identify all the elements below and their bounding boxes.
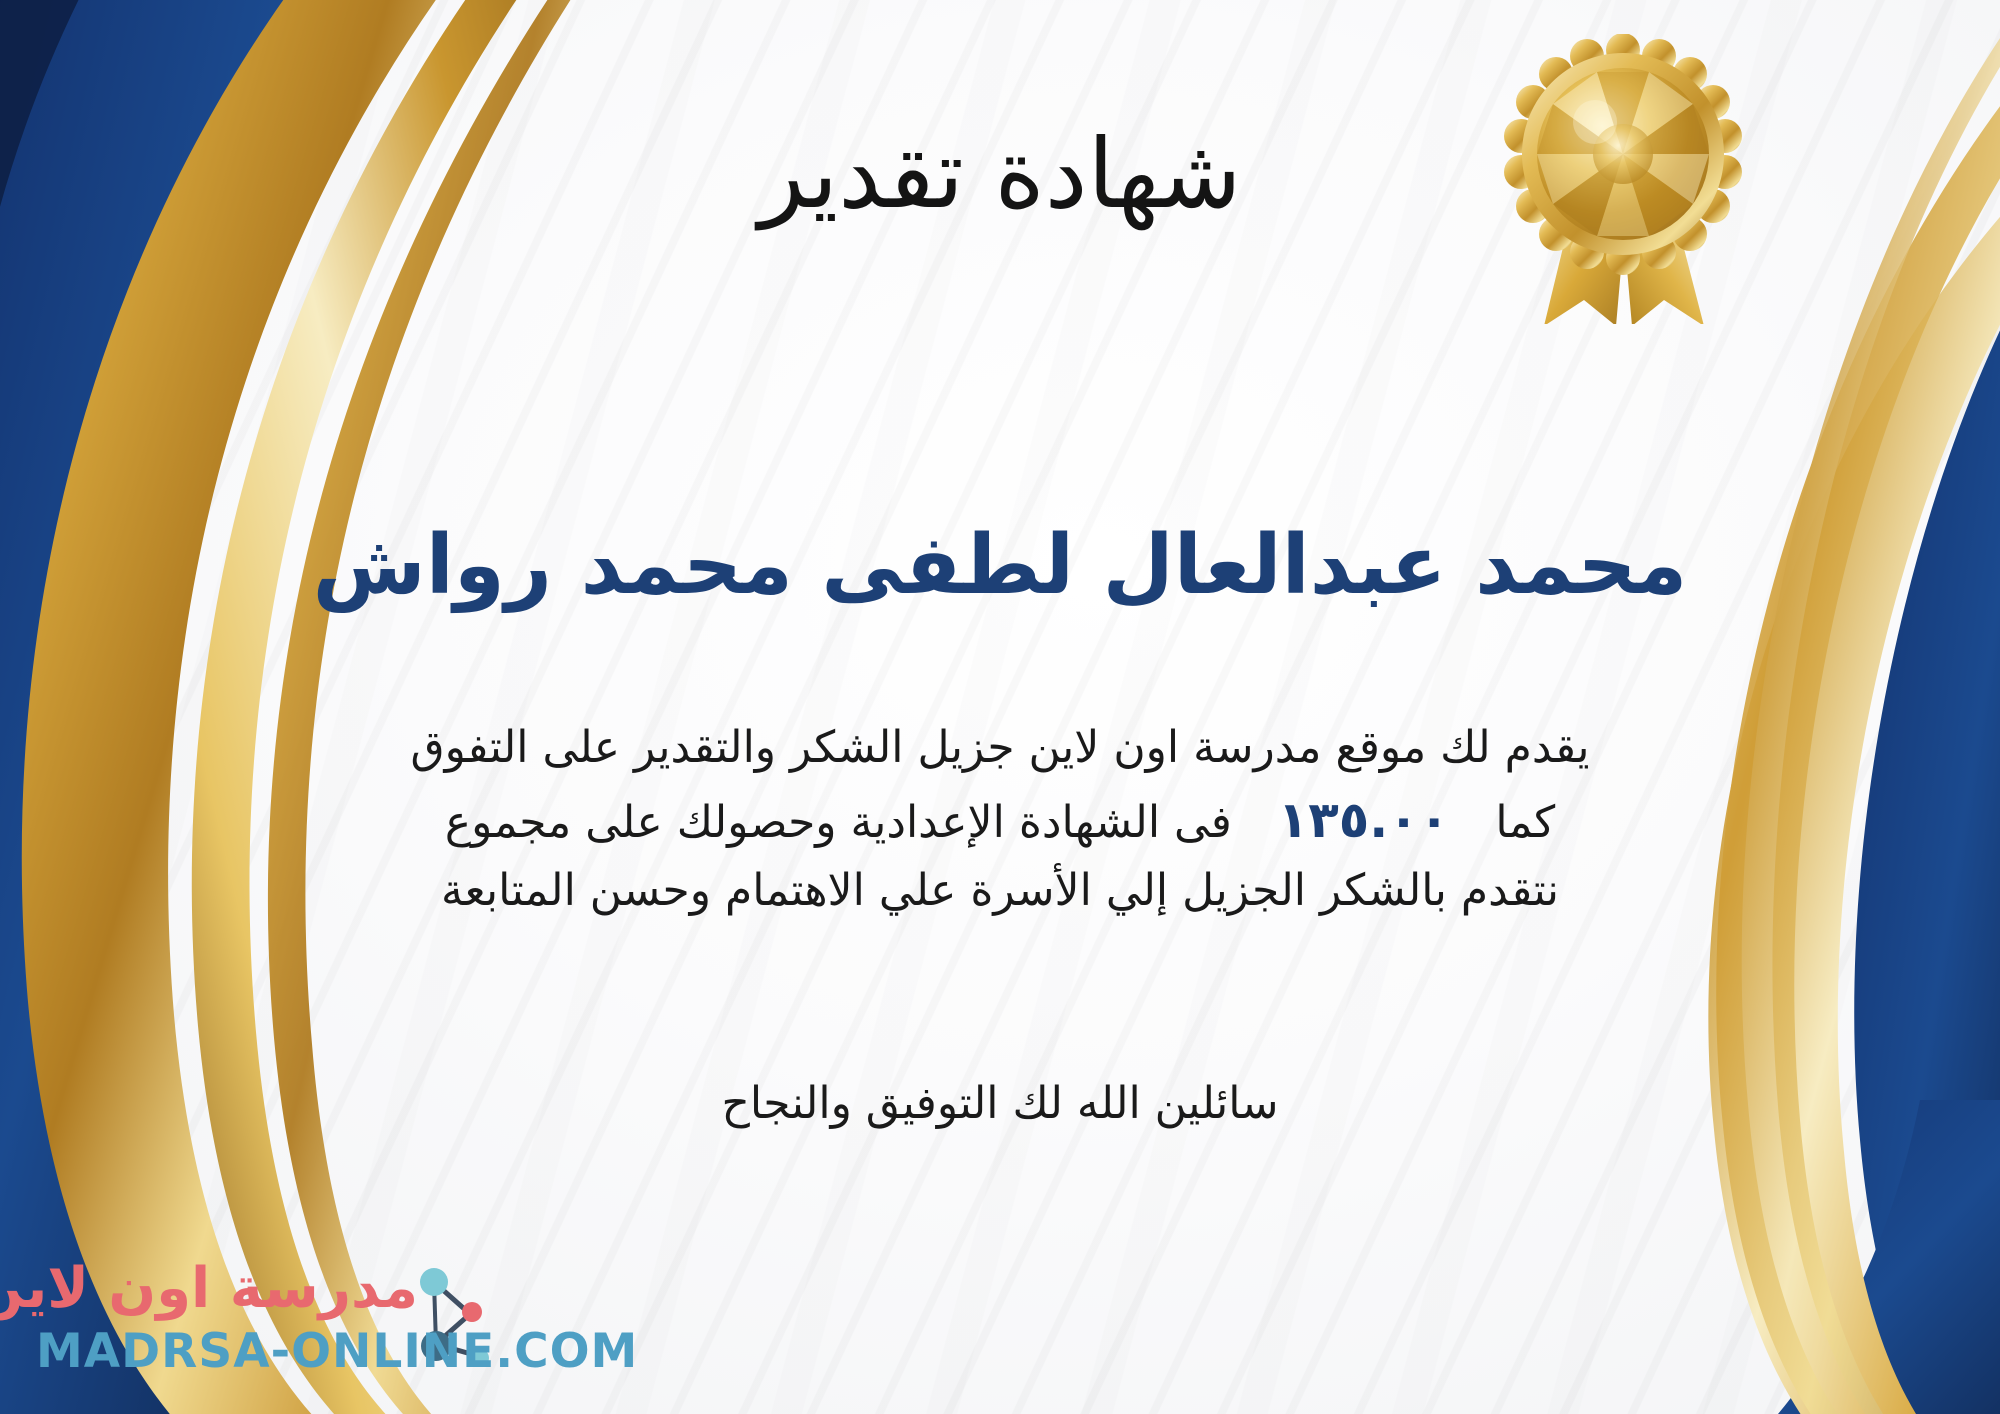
grade-value: ١٣٥.٠٠ [1278, 791, 1450, 849]
closing-line: سائلين الله لك التوفيق والنجاح [0, 1078, 2000, 1129]
recipient-name: محمد عبدالعال لطفى محمد رواش [0, 518, 2000, 613]
site-logo[interactable]: مدرسة اون لاين MADRSA-ONLINE.COM [28, 1252, 498, 1392]
certificate-title: شهادة تقدير [0, 118, 2000, 230]
certificate-body: يقدم لك موقع مدرسة اون لاين جزيل الشكر و… [60, 715, 1940, 925]
logo-arabic-name: مدرسة اون لاين [0, 1256, 418, 1321]
body-line-1: يقدم لك موقع مدرسة اون لاين جزيل الشكر و… [60, 715, 1940, 782]
body-line-3: نتقدم بالشكر الجزيل إلي الأسرة علي الاهت… [60, 858, 1940, 925]
body-line-2-prefix: فى الشهادة الإعدادية وحصولك على مجموع [445, 797, 1232, 848]
certificate-canvas: شهادة تقدير محمد عبدالعال لطفى محمد رواش… [0, 0, 2000, 1414]
body-line-2: كما١٣٥.٠٠فى الشهادة الإعدادية وحصولك على… [60, 782, 1940, 858]
body-line-2-suffix: كما [1495, 797, 1555, 848]
logo-website: MADRSA-ONLINE.COM [36, 1324, 638, 1379]
